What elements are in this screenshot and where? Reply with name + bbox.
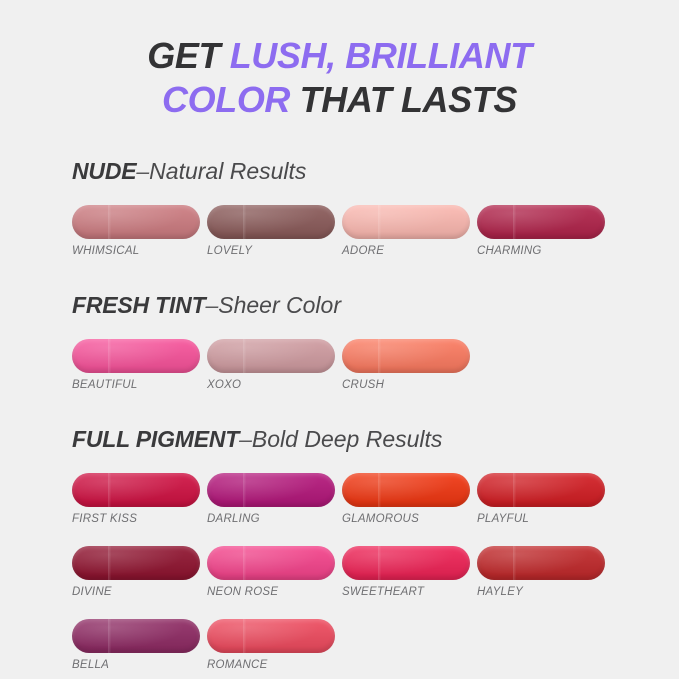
- swatch-cell[interactable]: GLAMOROUS: [342, 473, 477, 525]
- shade-swatch[interactable]: [477, 473, 605, 507]
- section-header-nude: NUDE–Natural Results: [72, 160, 619, 183]
- shade-swatch[interactable]: [72, 205, 200, 239]
- shade-label: DARLING: [207, 513, 335, 525]
- shade-swatch[interactable]: [72, 546, 200, 580]
- shade-swatch[interactable]: [207, 546, 335, 580]
- shade-label: HAYLEY: [477, 586, 605, 598]
- swatch-cell[interactable]: FIRST KISS: [72, 473, 207, 525]
- swatch-grid-fresh-tint: BEAUTIFUL XOXO CRUSH: [72, 339, 612, 391]
- swatch-cell[interactable]: DARLING: [207, 473, 342, 525]
- shade-swatch[interactable]: [207, 205, 335, 239]
- section-description: Sheer Color: [218, 292, 341, 318]
- section-description: Natural Results: [149, 158, 306, 184]
- page-title: GET LUSH, BRILLIANT COLOR THAT LASTS: [0, 0, 679, 122]
- shade-label: BELLA: [72, 659, 200, 671]
- swatch-cell[interactable]: HAYLEY: [477, 546, 612, 598]
- headline-line-2: COLOR THAT LASTS: [60, 78, 619, 122]
- swatch-grid-nude: WHIMSICAL LOVELY ADORE CHARMING: [72, 205, 612, 257]
- headline-get: GET: [147, 35, 229, 76]
- swatch-cell[interactable]: XOXO: [207, 339, 342, 391]
- section-header-fresh-tint: FRESH TINT–Sheer Color: [72, 294, 619, 317]
- section-name: FULL PIGMENT: [72, 426, 239, 452]
- swatch-grid-full-pigment: FIRST KISS DARLING GLAMOROUS PLAYFUL DIV…: [72, 473, 612, 671]
- shade-label: NEON ROSE: [207, 586, 335, 598]
- section-fresh-tint: FRESH TINT–Sheer Color BEAUTIFUL XOXO CR…: [0, 294, 679, 391]
- shade-swatch[interactable]: [72, 619, 200, 653]
- swatch-cell[interactable]: ROMANCE: [207, 619, 342, 671]
- shade-label: ADORE: [342, 245, 470, 257]
- section-full-pigment: FULL PIGMENT–Bold Deep Results FIRST KIS…: [0, 428, 679, 671]
- headline-color: COLOR: [162, 79, 290, 120]
- shade-swatch[interactable]: [72, 339, 200, 373]
- section-dash: –: [136, 158, 149, 184]
- section-nude: NUDE–Natural Results WHIMSICAL LOVELY AD…: [0, 160, 679, 257]
- shade-swatch[interactable]: [477, 205, 605, 239]
- shade-label: PLAYFUL: [477, 513, 605, 525]
- section-description: Bold Deep Results: [252, 426, 443, 452]
- section-header-full-pigment: FULL PIGMENT–Bold Deep Results: [72, 428, 619, 451]
- swatch-cell[interactable]: BEAUTIFUL: [72, 339, 207, 391]
- shade-label: XOXO: [207, 379, 335, 391]
- shade-label: BEAUTIFUL: [72, 379, 200, 391]
- shade-label: WHIMSICAL: [72, 245, 200, 257]
- headline-that-lasts: THAT LASTS: [290, 79, 517, 120]
- row-spacer: [72, 598, 612, 619]
- shade-swatch[interactable]: [342, 473, 470, 507]
- shade-label: ROMANCE: [207, 659, 335, 671]
- section-name: NUDE: [72, 158, 136, 184]
- section-dash: –: [205, 292, 218, 318]
- headline-line-1: GET LUSH, BRILLIANT: [60, 34, 619, 78]
- section-dash: –: [239, 426, 252, 452]
- shade-label: DIVINE: [72, 586, 200, 598]
- swatch-cell[interactable]: CRUSH: [342, 339, 477, 391]
- headline-lush-brilliant: LUSH, BRILLIANT: [230, 35, 532, 76]
- shade-swatch[interactable]: [477, 546, 605, 580]
- shade-swatch[interactable]: [342, 339, 470, 373]
- swatch-cell[interactable]: BELLA: [72, 619, 207, 671]
- row-spacer: [72, 525, 612, 546]
- swatch-cell[interactable]: SWEETHEART: [342, 546, 477, 598]
- swatch-cell[interactable]: DIVINE: [72, 546, 207, 598]
- shade-swatch[interactable]: [342, 205, 470, 239]
- shade-swatch[interactable]: [207, 473, 335, 507]
- shade-label: CHARMING: [477, 245, 605, 257]
- shade-swatch[interactable]: [72, 473, 200, 507]
- shade-label: GLAMOROUS: [342, 513, 470, 525]
- shade-swatch[interactable]: [342, 546, 470, 580]
- section-name: FRESH TINT: [72, 292, 205, 318]
- swatch-cell[interactable]: LOVELY: [207, 205, 342, 257]
- shade-label: FIRST KISS: [72, 513, 200, 525]
- swatch-cell[interactable]: NEON ROSE: [207, 546, 342, 598]
- shade-label: CRUSH: [342, 379, 470, 391]
- shade-swatch[interactable]: [207, 339, 335, 373]
- swatch-cell[interactable]: CHARMING: [477, 205, 612, 257]
- shade-swatch[interactable]: [207, 619, 335, 653]
- swatch-cell[interactable]: WHIMSICAL: [72, 205, 207, 257]
- shade-label: LOVELY: [207, 245, 335, 257]
- shade-label: SWEETHEART: [342, 586, 470, 598]
- swatch-cell[interactable]: PLAYFUL: [477, 473, 612, 525]
- swatch-cell[interactable]: ADORE: [342, 205, 477, 257]
- shade-chart-page: GET LUSH, BRILLIANT COLOR THAT LASTS NUD…: [0, 0, 679, 679]
